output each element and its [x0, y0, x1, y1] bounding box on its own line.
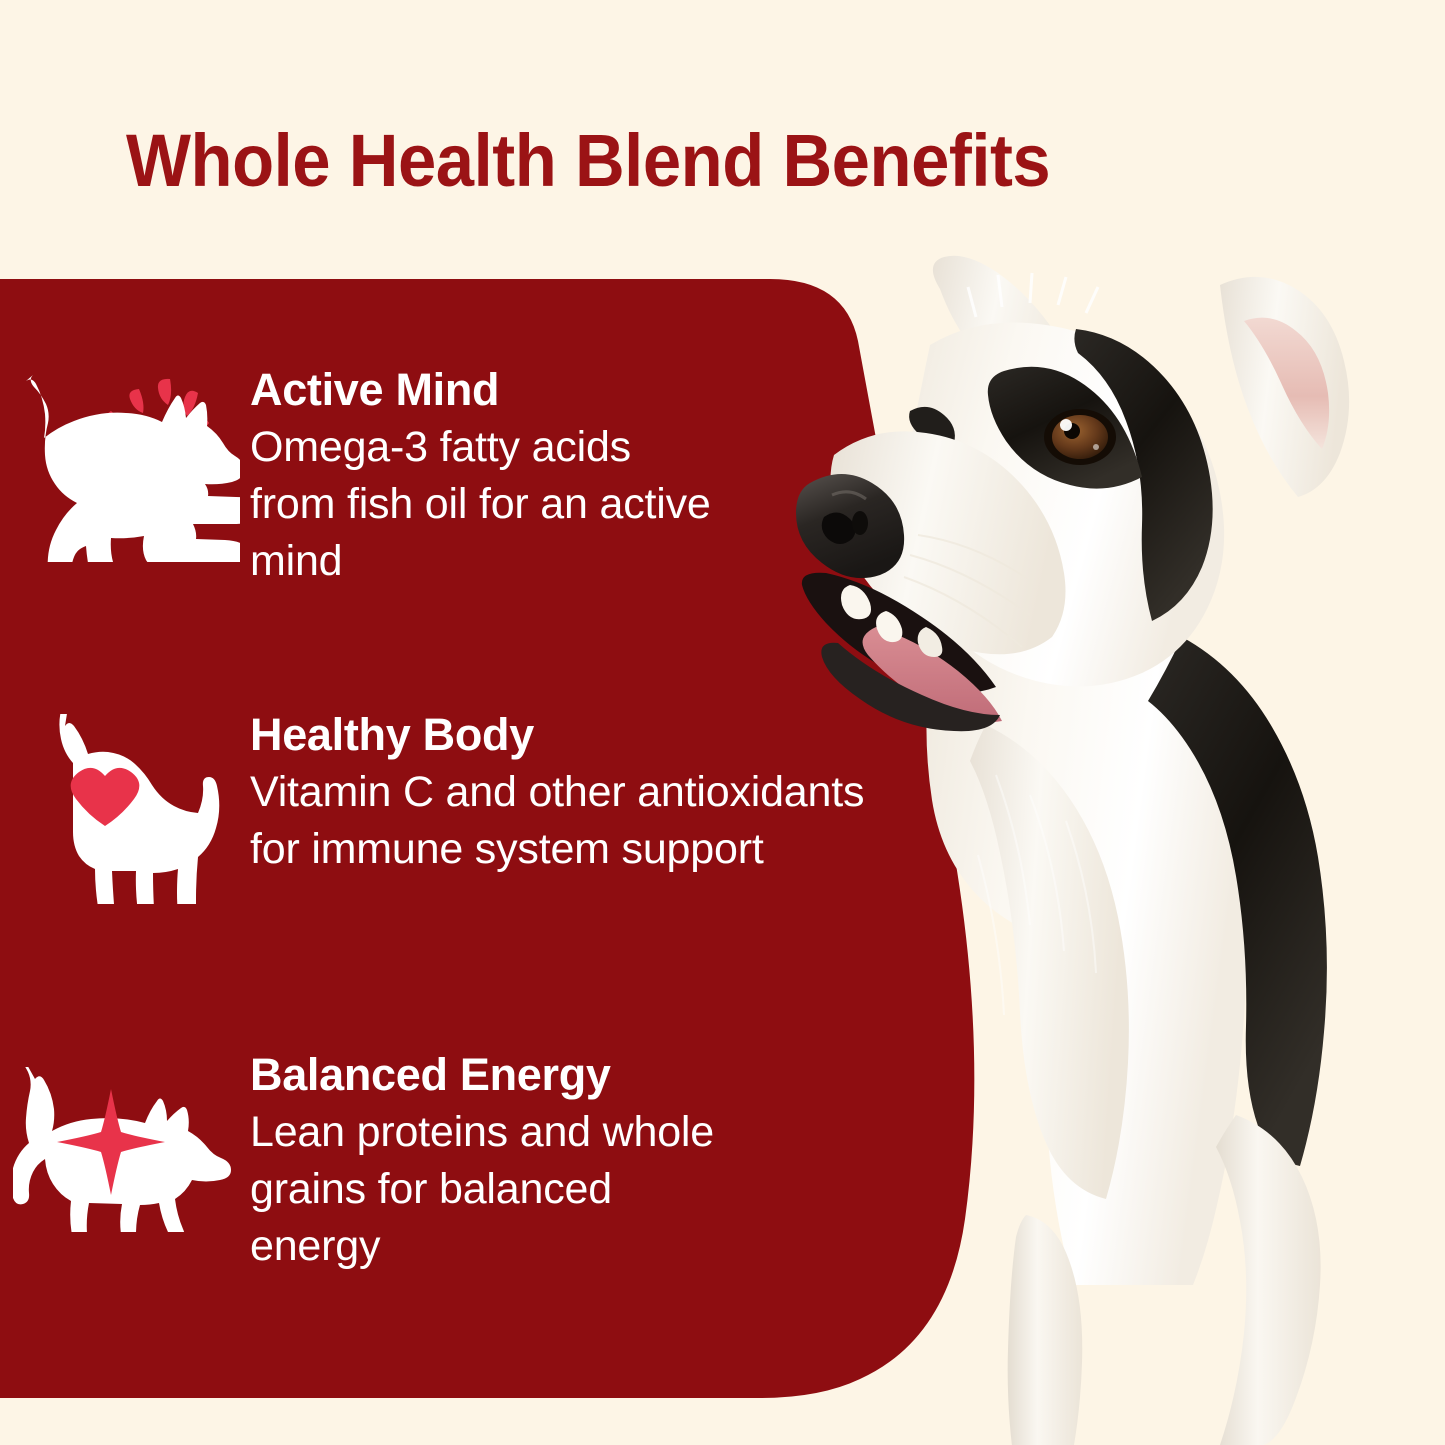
- benefit-description: Lean proteins and whole grains for balan…: [250, 1104, 750, 1275]
- dog-with-heart-icon: [0, 704, 250, 914]
- promo-graphic: Whole Health Blend Benefits: [0, 0, 1445, 1445]
- benefit-text-healthy-body: Healthy Body Vitamin C and other antioxi…: [250, 704, 870, 878]
- benefit-title: Balanced Energy: [250, 1048, 750, 1102]
- page-title: Whole Health Blend Benefits: [126, 118, 1149, 208]
- benefit-text-balanced-energy: Balanced Energy Lean proteins and whole …: [250, 1044, 750, 1275]
- benefit-text-active-mind: Active Mind Omega-3 fatty acids from fis…: [250, 359, 720, 590]
- benefit-description: Vitamin C and other antioxidants for imm…: [250, 764, 870, 878]
- benefit-description: Omega-3 fatty acids from fish oil for an…: [250, 419, 720, 590]
- dog-play-bow-sparks-icon: [0, 359, 250, 569]
- benefit-title: Active Mind: [250, 363, 720, 417]
- border-collie-dog-photo: [790, 255, 1445, 1445]
- dog-running-sparkle-icon: [0, 1044, 250, 1254]
- benefit-title: Healthy Body: [250, 708, 870, 762]
